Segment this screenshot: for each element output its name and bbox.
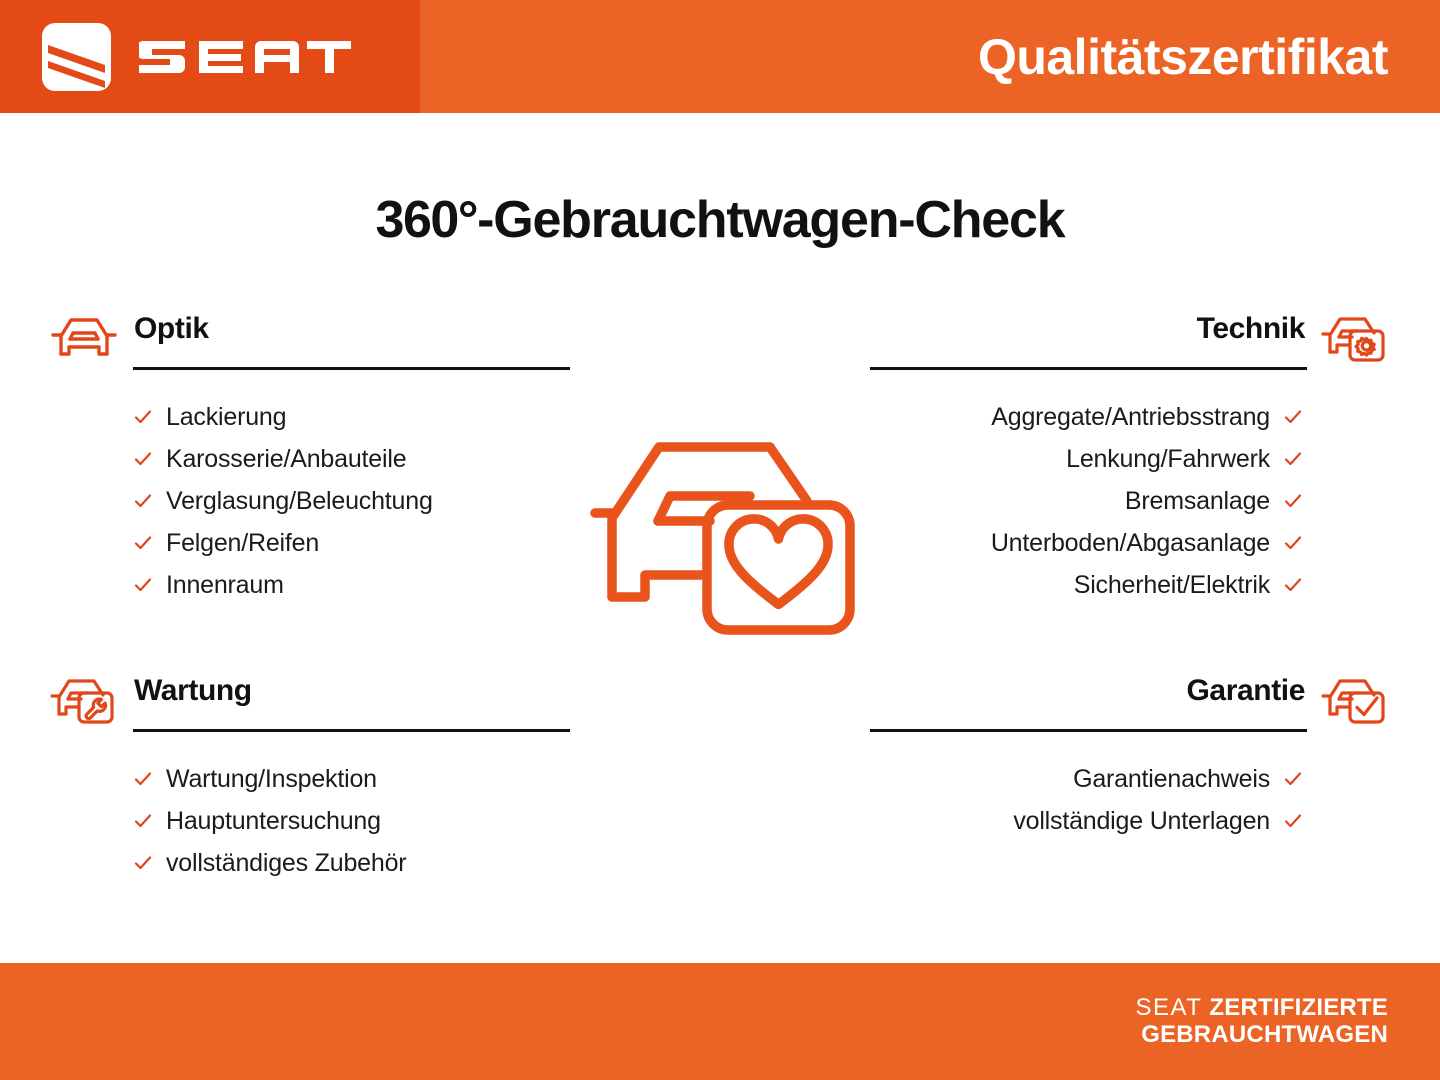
header-title-panel: Qualitätszertifikat bbox=[420, 0, 1440, 113]
list-item-label: Verglasung/Beleuchtung bbox=[166, 489, 433, 514]
page-title-degrees: 360° bbox=[376, 191, 478, 249]
list-item: Verglasung/Beleuchtung bbox=[133, 480, 573, 522]
list-item: Hauptuntersuchung bbox=[133, 800, 573, 842]
list-item: Wartung/Inspektion bbox=[133, 758, 573, 800]
list-item: Sicherheit/Elektrik bbox=[866, 564, 1303, 606]
section-wartung: Wartung Wartung/Inspektion Hauptuntersuc… bbox=[48, 674, 573, 884]
section-garantie-rule bbox=[870, 729, 1307, 732]
brand-panel bbox=[0, 0, 420, 113]
list-item-label: Hauptuntersuchung bbox=[166, 809, 381, 834]
list-item: Innenraum bbox=[133, 564, 573, 606]
section-optik: Optik Lackierung Karosserie/Anbauteile V… bbox=[48, 312, 573, 606]
list-item-label: Garantienachweis bbox=[1073, 767, 1270, 792]
list-item-label: Lenkung/Fahrwerk bbox=[1066, 447, 1270, 472]
list-item: vollständiges Zubehör bbox=[133, 842, 573, 884]
check-icon bbox=[133, 575, 153, 595]
check-icon bbox=[133, 449, 153, 469]
section-wartung-title: Wartung bbox=[134, 674, 252, 706]
page-header: Qualitätszertifikat bbox=[0, 0, 1440, 113]
section-wartung-header: Wartung bbox=[48, 674, 573, 726]
footer-bold-1: ZERTIFIZIERTE bbox=[1209, 994, 1388, 1021]
car-with-heart-badge-icon bbox=[590, 425, 862, 660]
list-item: Garantienachweis bbox=[866, 758, 1303, 800]
page-footer: SEAT ZERTIFIZIERTE GEBRAUCHTWAGEN bbox=[0, 963, 1440, 1080]
section-wartung-rule bbox=[133, 729, 570, 732]
list-item-label: Karosserie/Anbauteile bbox=[166, 447, 406, 472]
list-item: Felgen/Reifen bbox=[133, 522, 573, 564]
list-item: vollständige Unterlagen bbox=[866, 800, 1303, 842]
check-icon bbox=[133, 533, 153, 553]
list-item-label: Wartung/Inspektion bbox=[166, 767, 377, 792]
car-with-check-badge-icon bbox=[1319, 674, 1391, 724]
list-item-label: Aggregate/Antriebsstrang bbox=[991, 405, 1270, 430]
seat-logo bbox=[40, 21, 351, 93]
car-with-wrench-badge-icon bbox=[48, 674, 120, 724]
section-optik-header: Optik bbox=[48, 312, 573, 364]
list-item: Aggregate/Antriebsstrang bbox=[866, 396, 1303, 438]
section-technik: Technik Aggregate/Antriebsstrang Lenkung… bbox=[866, 312, 1391, 606]
check-icon bbox=[133, 853, 153, 873]
seat-s-logo-icon bbox=[40, 21, 113, 93]
footer-lockup: SEAT ZERTIFIZIERTE GEBRAUCHTWAGEN bbox=[1136, 995, 1388, 1049]
list-item-label: vollständige Unterlagen bbox=[1013, 809, 1270, 834]
check-icon bbox=[1283, 575, 1303, 595]
check-icon bbox=[133, 769, 153, 789]
section-optik-list: Lackierung Karosserie/Anbauteile Verglas… bbox=[48, 396, 573, 606]
list-item: Lenkung/Fahrwerk bbox=[866, 438, 1303, 480]
section-technik-title: Technik bbox=[1197, 312, 1305, 344]
section-garantie-list: Garantienachweis vollständige Unterlagen bbox=[866, 758, 1391, 842]
car-front-icon bbox=[48, 312, 120, 362]
check-icon bbox=[133, 491, 153, 511]
list-item-label: Felgen/Reifen bbox=[166, 531, 319, 556]
list-item-label: Bremsanlage bbox=[1125, 489, 1270, 514]
list-item-label: vollständiges Zubehör bbox=[166, 851, 406, 876]
page-title-rest: -Gebrauchtwagen-Check bbox=[477, 191, 1064, 249]
footer-line-1: SEAT ZERTIFIZIERTE bbox=[1136, 995, 1388, 1022]
list-item: Lackierung bbox=[133, 396, 573, 438]
car-with-gear-badge-icon bbox=[1319, 312, 1391, 362]
list-item: Bremsanlage bbox=[866, 480, 1303, 522]
list-item-label: Sicherheit/Elektrik bbox=[1074, 573, 1270, 598]
list-item-label: Lackierung bbox=[166, 405, 286, 430]
section-optik-rule bbox=[133, 367, 570, 370]
check-icon bbox=[1283, 449, 1303, 469]
section-garantie-header: Garantie bbox=[866, 674, 1391, 726]
section-wartung-list: Wartung/Inspektion Hauptuntersuchung vol… bbox=[48, 758, 573, 884]
section-technik-rule bbox=[870, 367, 1307, 370]
certificate-title: Qualitätszertifikat bbox=[978, 32, 1388, 82]
list-item: Karosserie/Anbauteile bbox=[133, 438, 573, 480]
check-icon bbox=[1283, 533, 1303, 553]
check-icon bbox=[133, 407, 153, 427]
list-item-label: Innenraum bbox=[166, 573, 284, 598]
list-item-label: Unterboden/Abgasanlage bbox=[991, 531, 1270, 556]
footer-line-2: GEBRAUCHTWAGEN bbox=[1136, 1022, 1388, 1049]
check-icon bbox=[1283, 769, 1303, 789]
section-garantie-title: Garantie bbox=[1186, 674, 1305, 706]
section-garantie: Garantie Garantienachweis vollständige U… bbox=[866, 674, 1391, 842]
check-icon bbox=[1283, 811, 1303, 831]
list-item: Unterboden/Abgasanlage bbox=[866, 522, 1303, 564]
footer-brand: SEAT bbox=[1136, 994, 1203, 1021]
check-icon bbox=[1283, 407, 1303, 427]
check-icon bbox=[133, 811, 153, 831]
section-optik-title: Optik bbox=[134, 312, 209, 344]
seat-wordmark bbox=[139, 35, 351, 79]
page-title: 360°-Gebrauchtwagen-Check bbox=[0, 193, 1440, 248]
check-icon bbox=[1283, 491, 1303, 511]
section-technik-list: Aggregate/Antriebsstrang Lenkung/Fahrwer… bbox=[866, 396, 1391, 606]
section-technik-header: Technik bbox=[866, 312, 1391, 364]
